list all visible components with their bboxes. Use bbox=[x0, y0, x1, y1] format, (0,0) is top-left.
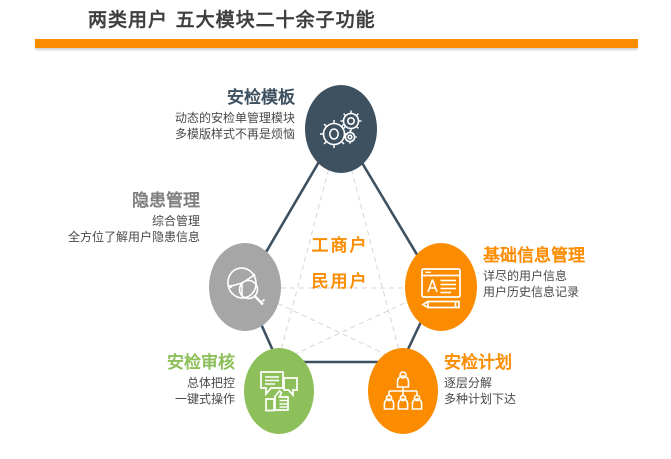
org-chart-icon bbox=[381, 370, 425, 412]
document-pencil-icon bbox=[419, 265, 463, 309]
node-label-inspection-template: 安检模板 动态的安检单管理模块 多模版样式不再是烦恼 bbox=[25, 87, 295, 142]
node-title-basic-info-management: 基础信息管理 bbox=[483, 245, 671, 267]
center-label-line1: 工商户 bbox=[285, 228, 395, 264]
node-label-hazard-management: 隐患管理 综合管理 全方位了解用户隐患信息 bbox=[10, 190, 200, 245]
node-title-inspection-review: 安检审核 bbox=[20, 352, 235, 374]
node-circle-inspection-plan[interactable] bbox=[368, 348, 438, 434]
page-title: 两类用户 五大模块二十余子功能 bbox=[88, 5, 376, 32]
center-label: 工商户 民用户 bbox=[285, 228, 395, 300]
pentagon-diagram: 安检模板 动态的安检单管理模块 多模版样式不再是烦恼 bbox=[0, 60, 671, 459]
node-circle-inspection-review[interactable] bbox=[244, 348, 314, 434]
node-circle-inspection-template[interactable] bbox=[305, 85, 377, 173]
node-subtitle-inspection-review-line1: 总体把控 bbox=[20, 375, 235, 391]
node-title-inspection-template: 安检模板 bbox=[25, 87, 295, 109]
node-subtitle-inspection-plan-line1: 逐层分解 bbox=[444, 375, 644, 391]
chat-thumbsup-icon bbox=[257, 369, 301, 413]
node-subtitle-inspection-plan-line2: 多种计划下达 bbox=[444, 391, 644, 407]
node-circle-basic-info-management[interactable] bbox=[405, 243, 477, 331]
node-subtitle-hazard-management-line1: 综合管理 bbox=[10, 213, 200, 229]
node-label-inspection-plan: 安检计划 逐层分解 多种计划下达 bbox=[444, 352, 644, 407]
magnifier-gauge-icon bbox=[222, 264, 268, 310]
node-title-hazard-management: 隐患管理 bbox=[10, 190, 200, 212]
node-circle-hazard-management[interactable] bbox=[209, 243, 281, 331]
node-subtitle-inspection-review-line2: 一键式操作 bbox=[20, 391, 235, 407]
node-subtitle-basic-info-management-line2: 用户历史信息记录 bbox=[483, 284, 671, 300]
node-subtitle-inspection-template-line1: 动态的安检单管理模块 bbox=[25, 110, 295, 126]
node-label-inspection-review: 安检审核 总体把控 一键式操作 bbox=[20, 352, 235, 407]
node-title-inspection-plan: 安检计划 bbox=[444, 352, 644, 374]
node-label-basic-info-management: 基础信息管理 详尽的用户信息 用户历史信息记录 bbox=[483, 245, 671, 300]
node-subtitle-hazard-management-line2: 全方位了解用户隐患信息 bbox=[10, 229, 200, 245]
node-subtitle-basic-info-management-line1: 详尽的用户信息 bbox=[483, 268, 671, 284]
node-subtitle-inspection-template-line2: 多模版样式不再是烦恼 bbox=[25, 126, 295, 142]
gears-icon bbox=[318, 108, 364, 150]
header-divider-bar bbox=[35, 39, 638, 48]
center-label-line2: 民用户 bbox=[285, 264, 395, 300]
